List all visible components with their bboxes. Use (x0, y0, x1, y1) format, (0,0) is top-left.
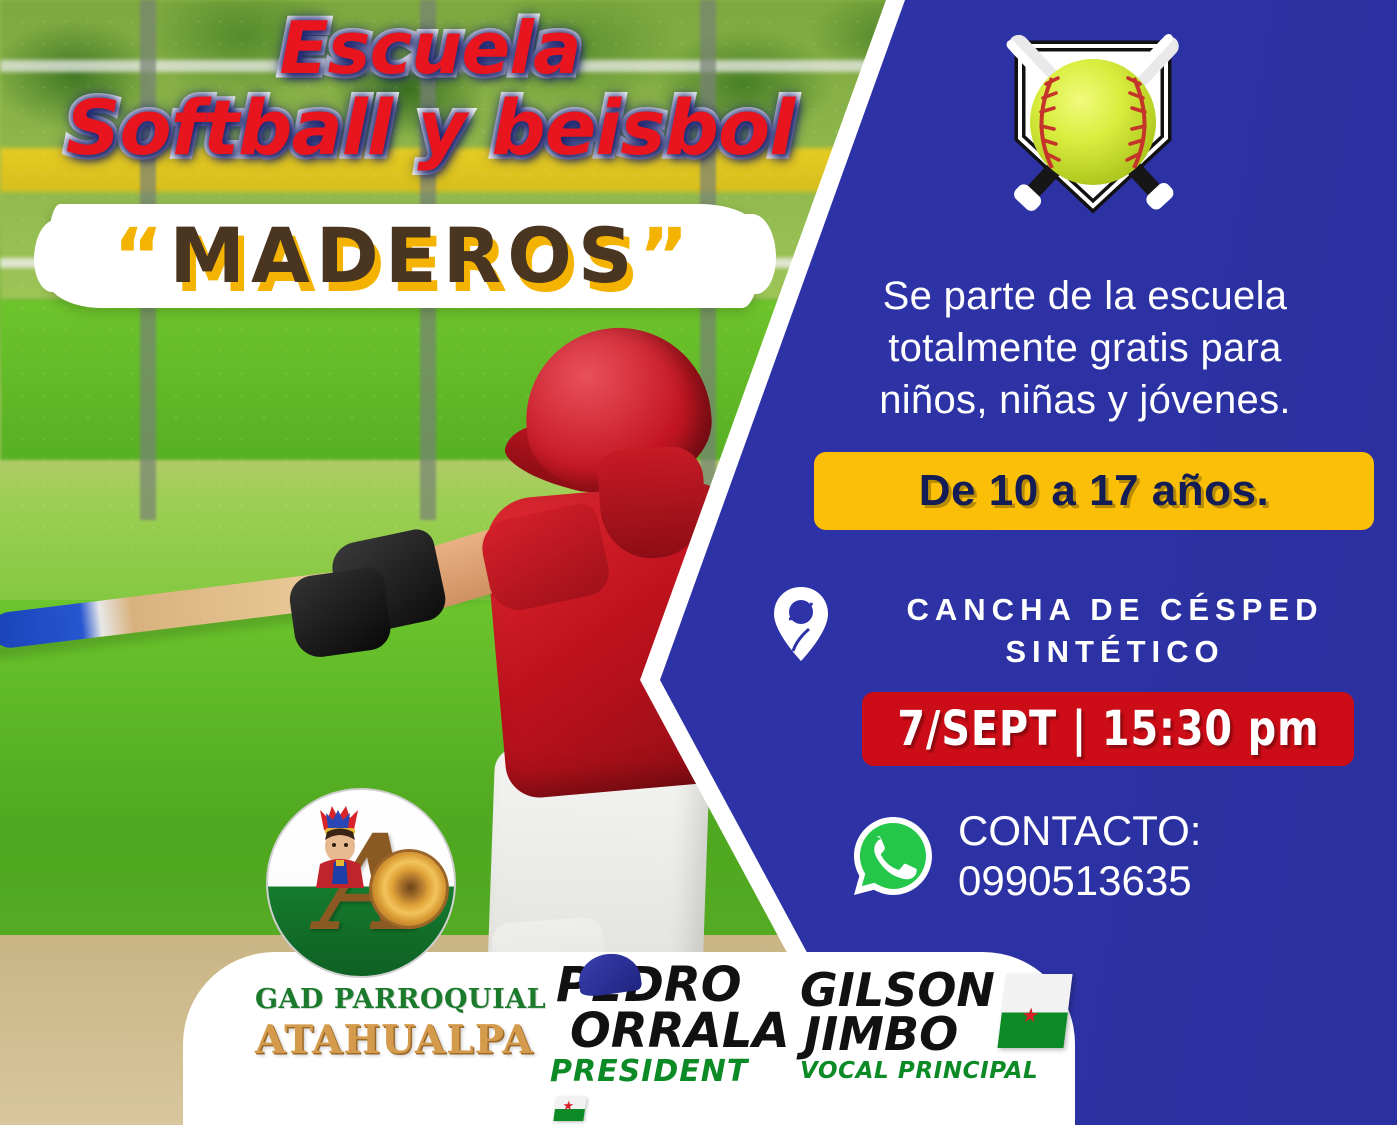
pedro-last-name: ORRALA (550, 1008, 780, 1054)
gilson-role-text: VOCAL PRINCIPAL (800, 1056, 1060, 1086)
pedro-role-row: PRESIDENT (550, 1054, 780, 1125)
gad-town-line: ATAHUALPA (255, 1017, 467, 1063)
sponsor-gilson-jimbo: GILSON JIMBO VOCAL PRINCIPAL (800, 968, 1060, 1086)
map-pin-icon (772, 585, 830, 663)
contact-phone[interactable]: 0990513635 (958, 856, 1201, 906)
gad-logo-circle: A (266, 788, 456, 978)
sponsor-gad-atahualpa: A GAD PARROQUIAL ATAHUALPA (255, 788, 467, 1063)
lead-description: Se parte de la escuela totalmente gratis… (845, 270, 1325, 426)
quote-close: ” (639, 211, 695, 300)
title-line-sport: Softball y beisbol (60, 90, 800, 166)
gad-name-line: GAD PARROQUIAL (255, 984, 467, 1015)
title-line-escuela: Escuela (60, 12, 800, 84)
wood-log-slice-icon (372, 852, 446, 926)
school-name-maderos: “MADEROS” (48, 212, 760, 300)
school-name-text: MADEROS (169, 211, 638, 300)
location-line-1: CANCHA DE CÉSPED (848, 589, 1382, 631)
sponsor-pedro-orrala: PEDRO ORRALA PRESIDENT (550, 962, 780, 1125)
quote-open: “ (113, 211, 169, 300)
contact-text: CONTACTO: 0990513635 (958, 806, 1201, 906)
indigenous-figure-icon (306, 804, 374, 890)
age-range-badge: De 10 a 17 años. (814, 452, 1374, 530)
contact-row[interactable]: CONTACTO: 0990513635 (850, 806, 1390, 906)
date-time-text: 7/SEPT | 15:30 pm (897, 701, 1319, 757)
location-line-2: SINTÉTICO (848, 631, 1382, 673)
date-time-badge: 7/SEPT | 15:30 pm (862, 692, 1354, 766)
location-text: CANCHA DE CÉSPED SINTÉTICO (848, 585, 1382, 673)
title-block: Escuela Softball y beisbol (60, 12, 800, 166)
pedro-role-text: PRESIDENT (550, 1054, 748, 1089)
contact-label: CONTACTO: (958, 806, 1201, 856)
photo-batting-glove (287, 566, 393, 661)
crossed-bats-softball-emblem (968, 10, 1218, 242)
small-flag-icon (553, 1097, 586, 1121)
green-white-flag-icon (997, 974, 1072, 1048)
flyer-root: Escuela Softball y beisbol “MADEROS” (0, 0, 1397, 1125)
softball-icon (1030, 59, 1156, 185)
location-row: CANCHA DE CÉSPED SINTÉTICO (772, 585, 1382, 673)
whatsapp-icon[interactable] (850, 813, 936, 899)
